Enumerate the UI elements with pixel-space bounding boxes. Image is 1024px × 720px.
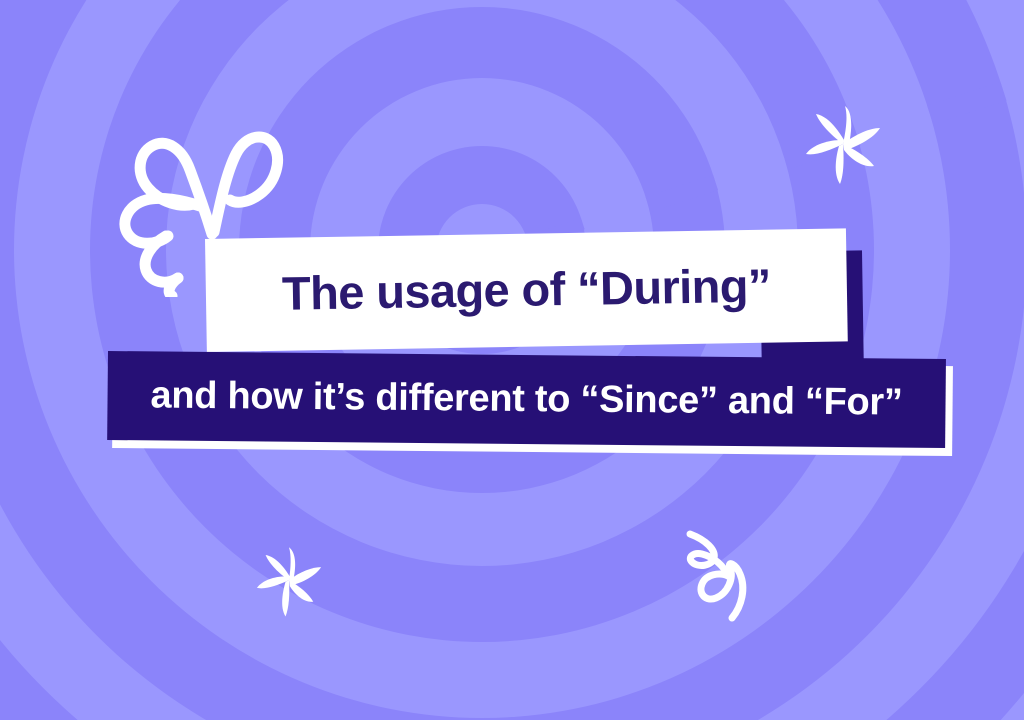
title-line1-text: The usage of “During” <box>282 262 771 317</box>
title-line2-banner: and how it’s different to “Since” and “F… <box>107 351 946 448</box>
poster-canvas: The usage of “During” and how it’s diffe… <box>0 0 1024 720</box>
title-line2-text: and how it’s different to “Since” and “F… <box>150 376 902 421</box>
title-card: The usage of “During” and how it’s diffe… <box>0 0 1024 720</box>
title-line1-banner: The usage of “During” <box>205 228 848 352</box>
